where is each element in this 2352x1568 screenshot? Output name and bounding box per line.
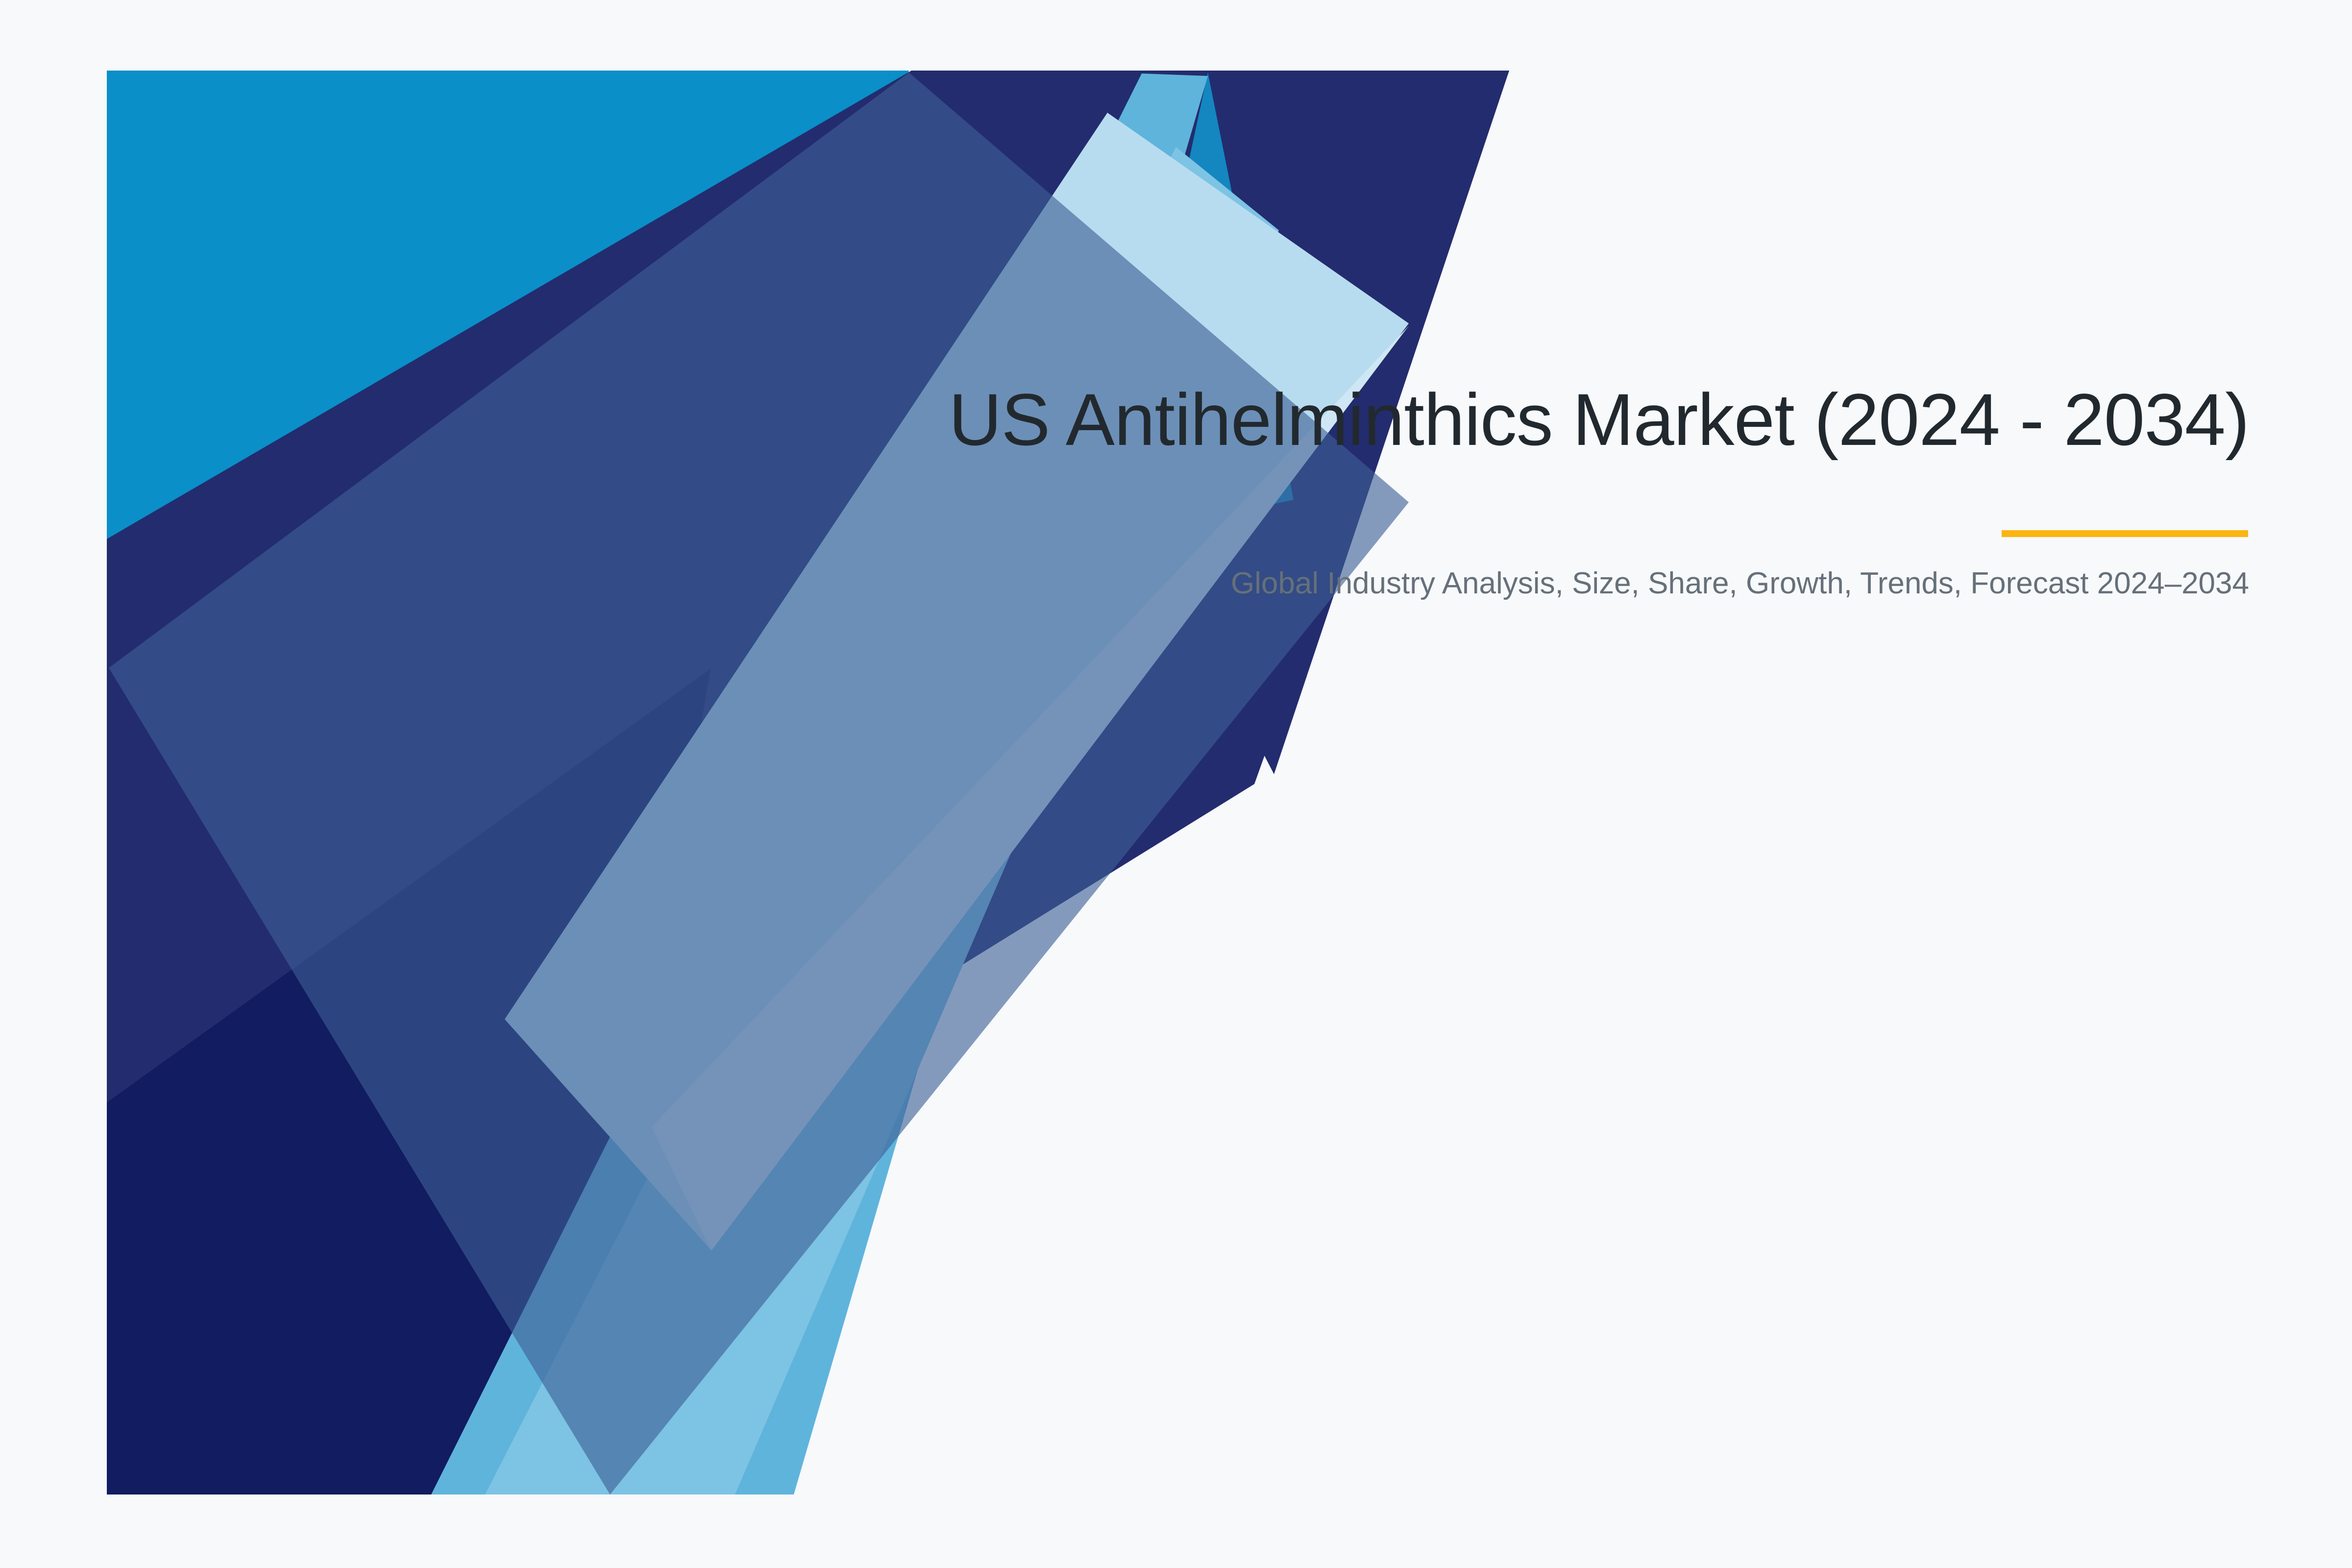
cover-text-block: US Antihelminthics Market (2024 - 2034) … <box>931 372 2249 605</box>
page-title: US Antihelminthics Market (2024 - 2034) <box>931 372 2249 466</box>
abstract-polygon-graphic <box>0 0 2352 1568</box>
report-subtitle: Global Industry Analysis, Size, Share, G… <box>931 466 2249 605</box>
report-cover: US Antihelminthics Market (2024 - 2034) … <box>0 0 2352 1568</box>
artwork-left-mask <box>0 0 107 1568</box>
artwork-bottom-mask <box>0 1494 2352 1568</box>
artwork-top-mask <box>0 0 2352 71</box>
